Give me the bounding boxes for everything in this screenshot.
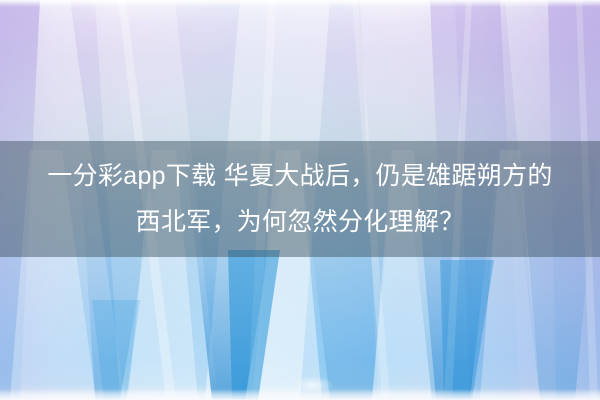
top-light-strip xyxy=(0,0,600,7)
caption-text-block: 一分彩app下载 华夏大战后，仍是雄踞朔方的 西北军，为何忽然分化理解？ xyxy=(0,141,600,257)
caption-line-1: 一分彩app下载 华夏大战后，仍是雄踞朔方的 xyxy=(47,154,552,198)
bottom-light-strip xyxy=(0,389,600,400)
banner-image: 一分彩app下载 华夏大战后，仍是雄踞朔方的 西北军，为何忽然分化理解？ xyxy=(0,0,600,400)
caption-line-2: 西北军，为何忽然分化理解？ xyxy=(136,200,465,244)
